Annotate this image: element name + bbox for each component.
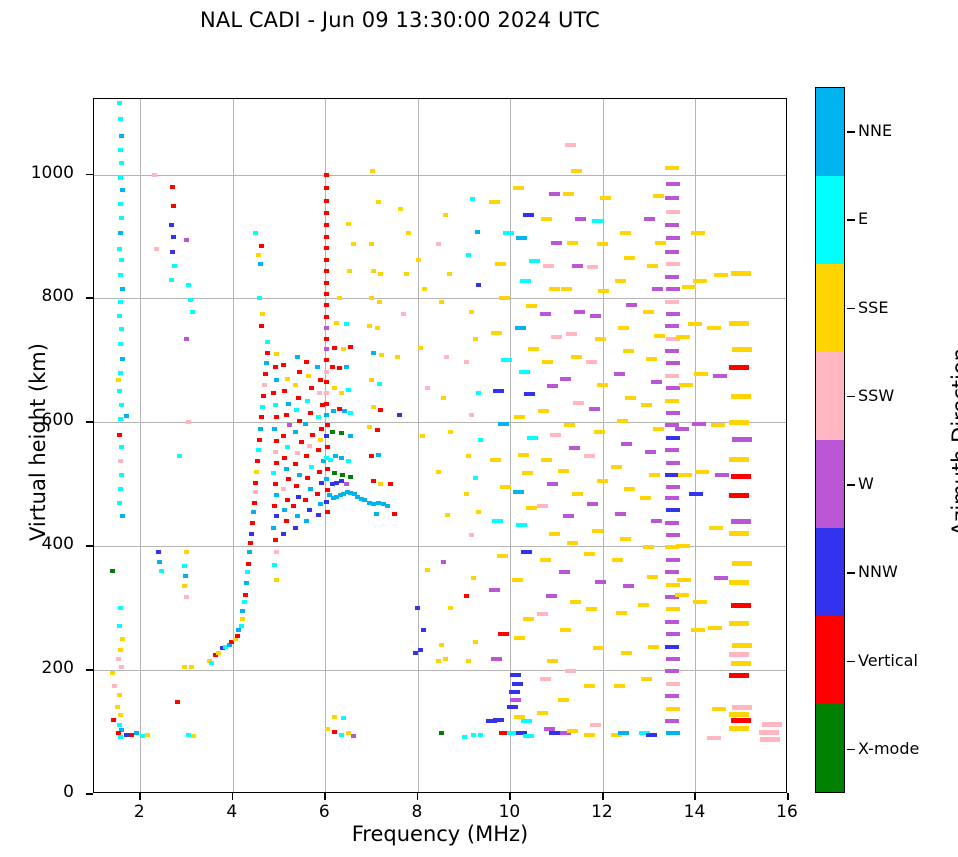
echo-point: [397, 413, 402, 417]
echo-point: [260, 312, 265, 316]
colorbar-tick-mark: [847, 396, 855, 398]
echo-point: [274, 461, 279, 465]
echo-point: [439, 643, 444, 647]
echo-point: [304, 454, 309, 458]
echo-point: [253, 481, 258, 485]
echo-point: [375, 428, 380, 432]
echo-point: [293, 462, 298, 466]
echo-point: [665, 570, 679, 574]
echo-point: [729, 321, 749, 326]
echo-point: [688, 322, 702, 326]
echo-point: [119, 473, 124, 477]
echo-point: [118, 713, 123, 717]
echo-point: [244, 581, 249, 585]
echo-point: [665, 694, 679, 698]
echo-point: [293, 430, 298, 434]
echo-point: [558, 469, 569, 473]
echo-point: [476, 283, 481, 287]
echo-point: [117, 247, 122, 251]
echo-point: [597, 383, 608, 387]
echo-point: [170, 185, 175, 189]
echo-point: [666, 436, 680, 440]
echo-point: [543, 264, 554, 268]
echo-point: [184, 595, 189, 599]
echo-point: [425, 386, 430, 390]
echo-point: [285, 377, 290, 381]
echo-point: [640, 496, 651, 500]
colorbar-tick-mark: [847, 572, 855, 574]
echo-point: [538, 409, 549, 413]
echo-point: [618, 731, 629, 735]
echo-point: [441, 560, 446, 564]
echo-point: [665, 473, 679, 477]
echo-point: [186, 283, 191, 287]
echo-point: [666, 731, 680, 735]
echo-point: [666, 210, 680, 214]
echo-point: [617, 419, 628, 423]
echo-point: [376, 453, 381, 457]
echo-point: [732, 347, 752, 352]
colorbar-title: Azimuth Direction: [948, 272, 958, 612]
echo-point: [252, 501, 257, 505]
echo-point: [592, 219, 603, 223]
echo-point: [294, 484, 299, 488]
echo-point: [341, 347, 346, 351]
echo-point: [297, 419, 302, 423]
echo-point: [332, 386, 337, 390]
colorbar-tick-mark: [847, 484, 855, 486]
echo-point: [713, 374, 727, 378]
echo-point: [274, 550, 279, 554]
echo-point: [731, 519, 751, 524]
echo-point: [182, 584, 187, 588]
echo-point: [286, 477, 291, 481]
echo-point: [324, 292, 329, 296]
echo-point: [731, 394, 751, 399]
echo-point: [491, 331, 502, 335]
echo-point: [378, 408, 383, 412]
echo-point: [729, 365, 749, 370]
echo-point: [679, 383, 693, 387]
echo-point: [464, 492, 469, 496]
colorbar-label-ssw: SSW: [858, 386, 894, 405]
echo-point: [118, 487, 123, 491]
echo-point: [515, 326, 526, 330]
echo-point: [567, 541, 578, 545]
echo-point: [324, 173, 329, 177]
gridline-horizontal: [94, 175, 786, 176]
echo-point: [324, 303, 329, 307]
echo-point: [584, 552, 595, 556]
echo-point: [513, 490, 524, 494]
echo-point: [324, 315, 329, 319]
echo-point: [498, 422, 509, 426]
echo-point: [285, 498, 290, 502]
echo-point: [729, 457, 749, 462]
echo-point: [523, 213, 534, 217]
echo-point: [169, 278, 174, 282]
echo-point: [516, 236, 527, 240]
echo-point: [287, 423, 292, 427]
echo-point: [567, 241, 578, 245]
echo-point: [318, 378, 323, 382]
echo-point: [678, 473, 692, 477]
echo-point: [243, 593, 248, 597]
echo-point: [507, 705, 518, 709]
echo-point: [677, 578, 691, 582]
echo-point: [112, 684, 117, 688]
echo-point: [569, 446, 580, 450]
echo-point: [476, 510, 481, 514]
echo-point: [762, 722, 782, 727]
echo-point: [118, 459, 123, 463]
echo-point: [304, 360, 309, 364]
echo-point: [324, 235, 329, 239]
echo-point: [111, 718, 116, 722]
echo-point: [171, 204, 176, 208]
echo-point: [729, 493, 749, 498]
echo-point: [273, 450, 278, 454]
echo-point: [760, 737, 780, 742]
echo-point: [255, 459, 260, 463]
echo-point: [371, 405, 376, 409]
echo-point: [571, 355, 582, 359]
echo-point: [711, 423, 725, 427]
echo-point: [316, 513, 321, 517]
echo-point: [182, 665, 187, 669]
echo-point: [493, 718, 504, 722]
x-tick-mark: [417, 793, 419, 800]
echo-point: [497, 554, 508, 558]
echo-point: [439, 300, 444, 304]
echo-point: [324, 477, 329, 481]
echo-point: [621, 442, 632, 446]
echo-point: [732, 561, 752, 566]
echo-point: [729, 673, 749, 678]
echo-point: [493, 389, 504, 393]
echo-point: [344, 322, 349, 326]
y-tick-mark: [86, 669, 93, 671]
echo-point: [759, 730, 779, 735]
echo-point: [466, 253, 471, 257]
echo-point: [378, 272, 383, 276]
echo-point: [436, 242, 441, 246]
echo-point: [333, 454, 338, 458]
echo-point: [186, 420, 191, 424]
echo-point: [118, 300, 123, 304]
echo-point: [351, 734, 356, 738]
echo-point: [369, 378, 374, 382]
echo-point: [235, 634, 240, 638]
echo-point: [119, 134, 124, 138]
echo-point: [476, 391, 481, 395]
echo-point: [416, 258, 421, 262]
echo-point: [248, 541, 253, 545]
echo-point: [415, 606, 420, 610]
colorbar-label-e: E: [858, 209, 868, 228]
echo-point: [651, 519, 662, 523]
echo-point: [651, 380, 662, 384]
colorbar-label-vertical: Vertical: [858, 651, 918, 670]
x-tick-mark: [139, 793, 141, 800]
echo-point: [324, 186, 329, 190]
echo-point: [119, 665, 124, 669]
echo-point: [117, 389, 122, 393]
echo-point: [274, 493, 279, 497]
echo-point: [117, 433, 122, 437]
echo-point: [714, 273, 728, 277]
echo-point: [537, 504, 548, 508]
echo-point: [240, 609, 245, 613]
echo-point: [339, 456, 344, 460]
echo-point: [665, 223, 679, 227]
echo-point: [116, 378, 121, 382]
echo-point: [512, 682, 523, 686]
echo-point: [549, 287, 560, 291]
echo-point: [666, 411, 680, 415]
echo-point: [574, 310, 585, 314]
echo-point: [448, 430, 453, 434]
echo-point: [547, 384, 558, 388]
echo-point: [254, 470, 259, 474]
echo-point: [274, 352, 279, 356]
echo-point: [115, 705, 120, 709]
echo-point: [152, 173, 157, 177]
echo-point: [510, 698, 521, 702]
echo-point: [284, 413, 289, 417]
echo-point: [134, 731, 139, 735]
echo-point: [256, 253, 261, 257]
echo-point: [436, 470, 441, 474]
echo-point: [309, 386, 314, 390]
colorbar-segment: [816, 176, 844, 264]
echo-point: [170, 250, 175, 254]
x-tick-mark: [694, 793, 696, 800]
echo-point: [522, 471, 533, 475]
echo-point: [324, 223, 329, 227]
x-tick-label: 4: [202, 802, 262, 822]
echo-point: [695, 470, 709, 474]
echo-point: [324, 337, 329, 341]
echo-point: [514, 636, 525, 640]
echo-point: [324, 402, 329, 406]
echo-point: [523, 734, 534, 738]
echo-point: [649, 473, 660, 477]
echo-point: [665, 349, 679, 353]
echo-point: [560, 377, 571, 381]
echo-point: [346, 222, 351, 226]
colorbar-segment: [816, 264, 844, 352]
echo-point: [348, 475, 353, 479]
echo-point: [285, 445, 290, 449]
echo-point: [401, 312, 406, 316]
echo-point: [375, 326, 380, 330]
echo-point: [259, 324, 264, 328]
echo-point: [715, 473, 729, 477]
colorbar: [815, 87, 845, 793]
echo-point: [540, 558, 551, 562]
echo-point: [332, 346, 337, 350]
echo-point: [346, 459, 351, 463]
echo-point: [251, 510, 256, 514]
echo-point: [572, 492, 583, 496]
echo-point: [478, 733, 483, 737]
echo-point: [666, 632, 680, 636]
gridline-vertical: [603, 99, 604, 792]
echo-point: [643, 310, 654, 314]
echo-point: [475, 230, 480, 234]
echo-point: [293, 383, 298, 387]
echo-point: [592, 529, 603, 533]
echo-point: [691, 628, 705, 632]
echo-point: [273, 403, 278, 407]
echo-point: [273, 538, 278, 542]
echo-point: [258, 262, 263, 266]
echo-point: [572, 264, 583, 268]
echo-point: [614, 684, 625, 688]
echo-point: [172, 264, 177, 268]
echo-point: [420, 434, 425, 438]
echo-point: [665, 645, 679, 649]
echo-point: [242, 600, 247, 604]
echo-point: [444, 355, 449, 359]
echo-point: [469, 310, 474, 314]
echo-point: [119, 403, 124, 407]
echo-point: [620, 537, 631, 541]
echo-point: [303, 422, 308, 426]
colorbar-segment: [816, 616, 844, 704]
echo-point: [274, 378, 279, 382]
echo-point: [253, 231, 258, 235]
echo-point: [118, 273, 123, 277]
echo-point: [473, 640, 478, 644]
x-tick-mark: [602, 793, 604, 800]
echo-point: [729, 531, 749, 536]
echo-point: [236, 628, 241, 632]
echo-point: [665, 620, 679, 624]
y-axis-title: Virtual height (km): [26, 272, 50, 612]
echo-point: [272, 427, 277, 431]
gridline-vertical: [510, 99, 511, 792]
echo-point: [624, 256, 635, 260]
echo-point: [666, 386, 680, 390]
echo-point: [563, 192, 574, 196]
echo-point: [709, 526, 723, 530]
colorbar-label-nne: NNE: [858, 121, 892, 140]
echo-point: [691, 231, 705, 235]
echo-point: [332, 471, 337, 475]
echo-point: [620, 231, 631, 235]
echo-point: [304, 519, 309, 523]
echo-point: [324, 258, 329, 262]
echo-point: [563, 514, 574, 518]
echo-point: [666, 508, 680, 512]
y-tick-mark: [86, 421, 93, 423]
gridline-horizontal: [94, 422, 786, 423]
echo-point: [469, 533, 474, 537]
echo-point: [510, 673, 521, 677]
echo-point: [682, 285, 696, 289]
figure-title: NAL CADI - Jun 09 13:30:00 2024 UTC: [0, 8, 800, 32]
echo-point: [418, 648, 423, 652]
echo-point: [625, 396, 636, 400]
echo-point: [524, 392, 535, 396]
echo-point: [250, 521, 255, 525]
echo-point: [441, 396, 446, 400]
echo-point: [618, 326, 629, 330]
echo-point: [529, 259, 540, 263]
echo-point: [306, 374, 311, 378]
echo-point: [281, 487, 286, 491]
echo-point: [339, 431, 344, 435]
y-tick-label: 0: [0, 782, 74, 802]
echo-point: [526, 506, 537, 510]
echo-point: [549, 532, 560, 536]
echo-point: [513, 186, 524, 190]
echo-point: [448, 606, 453, 610]
echo-point: [521, 719, 532, 723]
echo-point: [342, 409, 347, 413]
echo-point: [324, 211, 329, 215]
gridline-vertical: [695, 99, 696, 792]
colorbar-segment: [816, 704, 844, 792]
echo-point: [246, 562, 251, 566]
echo-point: [120, 514, 125, 518]
echo-point: [645, 450, 656, 454]
echo-point: [118, 176, 123, 180]
echo-point: [518, 453, 529, 457]
echo-point: [118, 417, 123, 421]
echo-point: [392, 512, 397, 516]
echo-point: [341, 716, 346, 720]
echo-point: [240, 617, 245, 621]
echo-point: [647, 575, 658, 579]
colorbar-segment: [816, 88, 844, 176]
echo-point: [666, 262, 680, 266]
echo-point: [120, 287, 125, 291]
echo-point: [339, 733, 344, 737]
echo-point: [425, 568, 430, 572]
echo-point: [274, 439, 279, 443]
echo-point: [665, 275, 679, 279]
echo-point: [560, 628, 571, 632]
echo-point: [665, 196, 679, 200]
echo-point: [309, 465, 314, 469]
echo-point: [388, 482, 393, 486]
echo-point: [324, 347, 329, 351]
echo-point: [653, 194, 664, 198]
echo-point: [665, 521, 679, 525]
x-tick-label: 16: [757, 802, 817, 822]
colorbar-segment: [816, 352, 844, 440]
echo-point: [512, 578, 523, 582]
echo-point: [337, 366, 342, 370]
colorbar-label-x-mode: X-mode: [858, 739, 919, 758]
echo-point: [489, 588, 500, 592]
echo-point: [334, 321, 339, 325]
echo-point: [447, 272, 452, 276]
echo-point: [445, 513, 450, 517]
echo-point: [271, 391, 276, 395]
echo-point: [297, 473, 302, 477]
echo-point: [462, 735, 467, 739]
echo-point: [307, 508, 312, 512]
echo-point: [398, 207, 403, 211]
gridline-horizontal: [94, 670, 786, 671]
echo-point: [317, 391, 322, 395]
echo-point: [500, 485, 511, 489]
echo-point: [264, 361, 269, 365]
